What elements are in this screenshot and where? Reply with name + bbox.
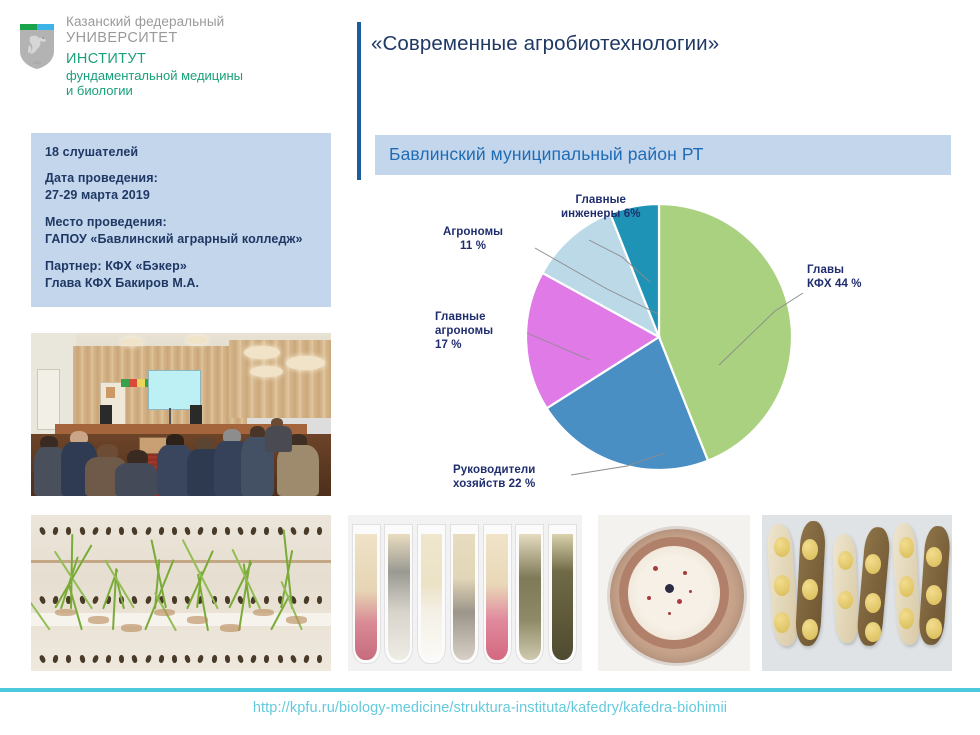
info-date-label: Дата проведения: — [45, 171, 158, 185]
svg-text:1804: 1804 — [33, 61, 42, 65]
pie-label-chief-engineers-l2: инженеры 6% — [561, 207, 641, 221]
seed-husk — [187, 616, 208, 624]
test-tube — [417, 524, 446, 663]
section-header-label: Бавлинский муниципальный район РТ — [389, 144, 704, 165]
pie-label-farm-heads-l1: Главы — [807, 263, 862, 277]
pie-label-chief-engineers: Главные инженеры 6% — [561, 193, 641, 221]
soybean-seed — [926, 585, 942, 605]
soybean-seed — [899, 608, 914, 629]
tube-agar-slant — [421, 534, 443, 660]
photo-lecture-hall — [31, 333, 331, 496]
test-tube — [384, 524, 413, 663]
photo-test-tubes — [348, 515, 582, 671]
pie-label-chief-agronomists-l2: агрономы — [435, 324, 493, 338]
seed-husk — [220, 624, 241, 632]
pie-label-chief-agronomists: Главные агрономы 17 % — [435, 310, 493, 352]
pie-label-farm-heads-l2: КФХ 44 % — [807, 277, 862, 291]
seed-husk — [154, 609, 175, 617]
footer-accent-rule — [0, 688, 980, 692]
seed-husk — [55, 609, 76, 617]
soybean-seed — [802, 619, 818, 640]
info-partner: Партнер: КФХ «Бэкер» — [45, 259, 187, 273]
info-partner-head: Глава КФХ Бакиров М.А. — [45, 276, 199, 290]
section-header-bar: Бавлинский муниципальный район РТ — [375, 135, 951, 175]
photo-germinated-seeds — [31, 515, 331, 671]
photo-soybean-pods — [762, 515, 952, 671]
tube-agar-slant — [388, 534, 410, 660]
test-tube — [450, 524, 479, 663]
pie-label-chief-agronomists-l1: Главные — [435, 310, 493, 324]
info-attendees: 18 слушателей — [45, 145, 138, 159]
seed-husk — [88, 616, 109, 624]
soybean-pod — [832, 533, 859, 643]
soybean-seed — [838, 551, 853, 570]
kfu-logo-block: 1804 Казанский федеральный УНИВЕРСИТЕТ И… — [18, 14, 318, 99]
title-accent-rule — [357, 22, 361, 180]
soybean-seed — [899, 537, 914, 558]
slide-canvas: 1804 Казанский федеральный УНИВЕРСИТЕТ И… — [0, 0, 980, 735]
soybean-seed — [865, 593, 881, 613]
seed-dot — [172, 596, 178, 604]
tube-agar-slant — [519, 534, 541, 660]
soybean-seed — [838, 591, 853, 610]
pie-label-farm-heads: Главы КФХ 44 % — [807, 263, 862, 291]
pie-chart-area: Главные инженеры 6% Агрономы 11 % Главны… — [375, 185, 951, 505]
pie-label-farm-managers-l1: Руководители — [453, 463, 535, 477]
pie-slices — [526, 204, 792, 470]
pie-label-chief-engineers-l1: Главные — [561, 193, 641, 207]
tube-agar-slant — [552, 534, 574, 660]
seed-husk — [286, 616, 307, 624]
info-venue-value: ГАПОУ «Бавлинский аграрный колледж» — [45, 232, 303, 246]
slide-title: «Современные агробиотехнологии» — [371, 32, 931, 56]
pie-label-chief-agronomists-l3: 17 % — [435, 338, 493, 352]
pie-label-agronomists: Агрономы 11 % — [443, 225, 503, 253]
logo-line-university-2: УНИВЕРСИТЕТ — [66, 30, 316, 47]
logo-line-university-1: Казанский федеральный — [66, 14, 316, 30]
soybean-seed — [899, 576, 914, 597]
logo-line-institute-sub-2: и биологии — [66, 83, 316, 98]
soybean-seed — [774, 612, 790, 633]
pie-label-agronomists-l1: Агрономы — [443, 225, 503, 239]
tube-agar-slant — [355, 534, 377, 660]
footer-url[interactable]: http://kpfu.ru/biology-medicine/struktur… — [0, 700, 980, 716]
kfu-shield-icon: 1804 — [18, 21, 56, 71]
soybean-seed — [774, 537, 790, 558]
soybean-seed — [926, 547, 942, 567]
seed-husk — [121, 624, 142, 632]
info-date-value: 27-29 марта 2019 — [45, 188, 150, 202]
soybean-seed — [926, 618, 942, 638]
tube-agar-slant — [486, 534, 508, 660]
test-tube — [352, 524, 381, 663]
test-tube — [515, 524, 544, 663]
info-venue-label: Место проведения: — [45, 215, 167, 229]
soybean-seed — [865, 554, 881, 574]
test-tube — [483, 524, 512, 663]
photo-petri-dish — [598, 515, 750, 671]
kfu-logo-text: Казанский федеральный УНИВЕРСИТЕТ ИНСТИТ… — [66, 14, 316, 98]
pie-label-agronomists-l2: 11 % — [443, 239, 503, 253]
pie-label-farm-managers: Руководители хозяйств 22 % — [453, 463, 535, 491]
seed-husk — [253, 609, 274, 617]
event-info-box: 18 слушателей Дата проведения: 27-29 мар… — [31, 133, 331, 307]
soybean-seed — [774, 575, 790, 596]
test-tube — [548, 524, 577, 663]
tube-agar-slant — [453, 534, 475, 660]
logo-line-institute: ИНСТИТУТ — [66, 50, 316, 68]
logo-line-institute-sub-1: фундаментальной медицины — [66, 68, 316, 83]
pie-label-farm-managers-l2: хозяйств 22 % — [453, 477, 535, 491]
